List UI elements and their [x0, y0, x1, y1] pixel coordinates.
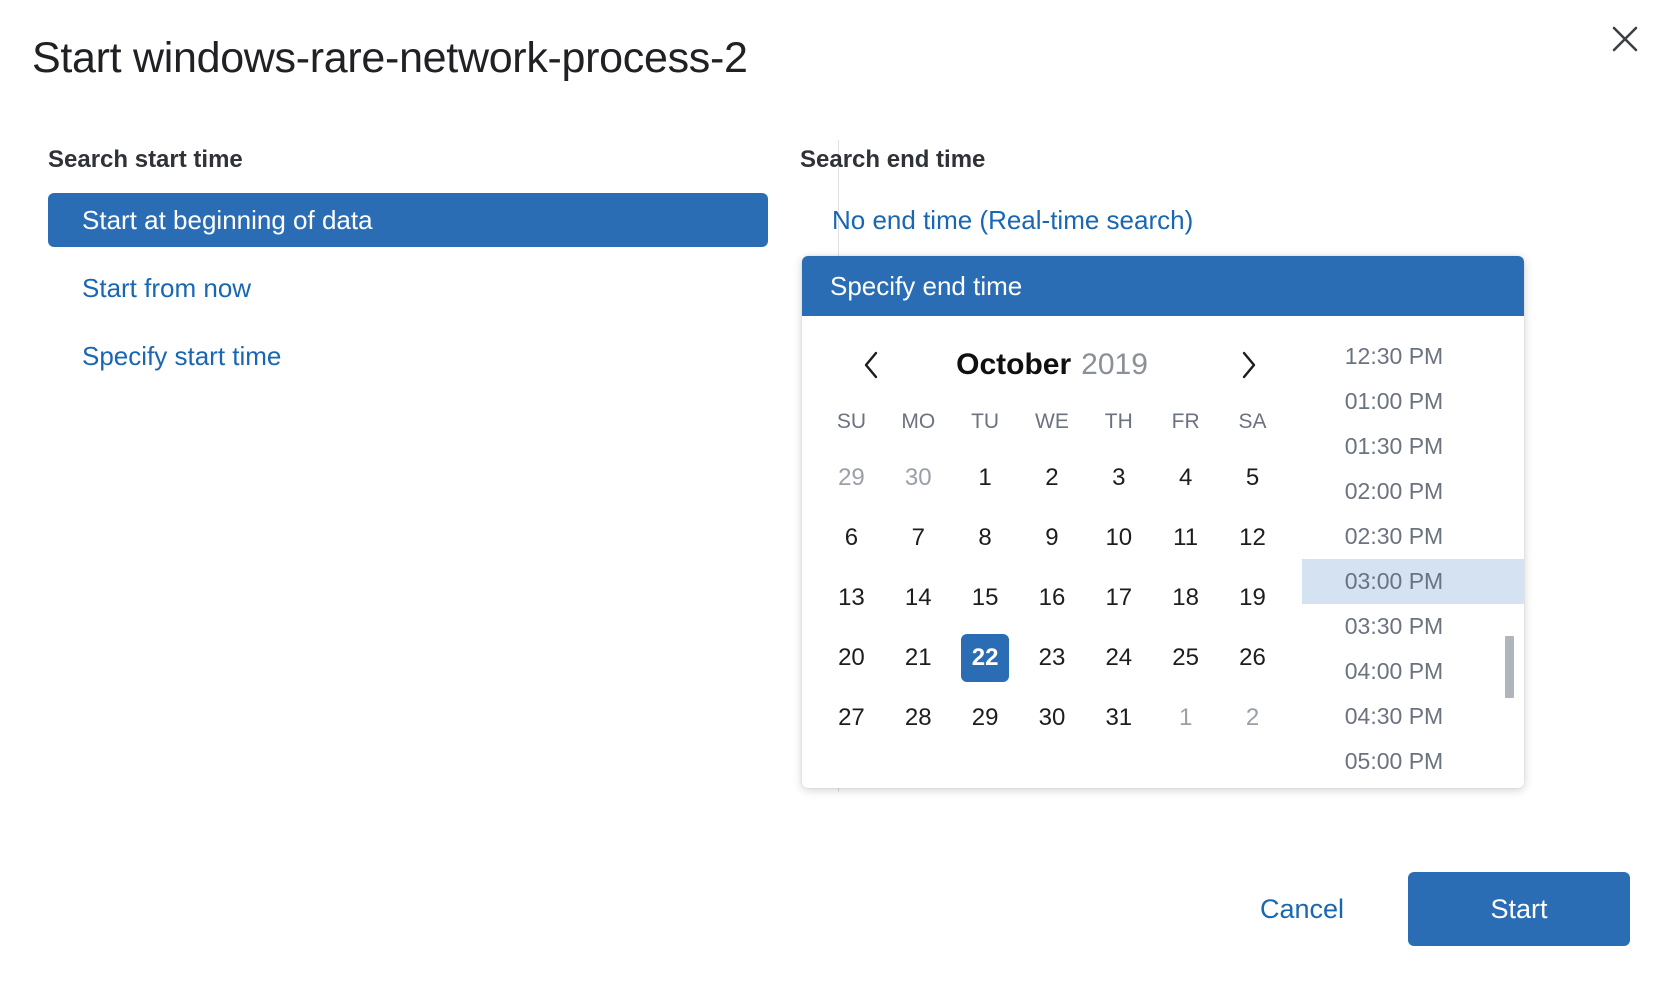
calendar-cell: 1: [1152, 688, 1219, 748]
end-time-option-list: No end time (Real-time search): [802, 193, 1524, 247]
calendar-cell: 2: [1219, 688, 1286, 748]
calendar-day[interactable]: 30: [1028, 694, 1076, 742]
calendar-cell: 1: [952, 448, 1019, 508]
time-option[interactable]: 05:00 PM: [1302, 739, 1524, 784]
calendar-day[interactable]: 8: [961, 514, 1009, 562]
calendar-day[interactable]: 24: [1095, 634, 1143, 682]
calendar-cell: 30: [885, 448, 952, 508]
start-option-beginning-of-data[interactable]: Start at beginning of data: [48, 193, 768, 247]
time-option-selected[interactable]: 03:00 PM: [1302, 559, 1524, 604]
calendar-cell: 3: [1085, 448, 1152, 508]
calendar-week-row: 293012345: [818, 448, 1286, 508]
calendar-day[interactable]: 29: [827, 454, 875, 502]
calendar-day[interactable]: 30: [894, 454, 942, 502]
calendar-grid: SUMOTUWETHFRSA 2930123456789101112131415…: [818, 396, 1286, 748]
calendar-cell: 14: [885, 568, 952, 628]
calendar-cell: 11: [1152, 508, 1219, 568]
time-option[interactable]: 02:00 PM: [1302, 469, 1524, 514]
calendar-cell: 20: [818, 628, 885, 688]
calendar-day[interactable]: 20: [827, 634, 875, 682]
calendar-cell: 27: [818, 688, 885, 748]
calendar-cell: 6: [818, 508, 885, 568]
calendar-weekday-mo: MO: [885, 396, 952, 448]
calendar-cell: 21: [885, 628, 952, 688]
calendar-day[interactable]: 26: [1229, 634, 1277, 682]
calendar-weekday-we: WE: [1019, 396, 1086, 448]
calendar-nav: October2019: [818, 334, 1286, 396]
calendar-cell: 29: [818, 448, 885, 508]
calendar-cell: 17: [1085, 568, 1152, 628]
calendar-year-label: 2019: [1081, 348, 1148, 381]
end-option-specify-end-time[interactable]: Specify end time: [802, 256, 1524, 316]
calendar-day[interactable]: 10: [1095, 514, 1143, 562]
calendar-cell: 13: [818, 568, 885, 628]
calendar-cell: 5: [1219, 448, 1286, 508]
calendar-cell: 24: [1085, 628, 1152, 688]
calendar-weekday-row: SUMOTUWETHFRSA: [818, 396, 1286, 448]
cancel-button[interactable]: Cancel: [1238, 884, 1366, 935]
calendar-month-label: October: [956, 348, 1071, 381]
calendar-cell: 10: [1085, 508, 1152, 568]
calendar-day[interactable]: 16: [1028, 574, 1076, 622]
calendar-cell: 28: [885, 688, 952, 748]
start-search-dialog: Start windows-rare-network-process-2 Sea…: [0, 0, 1666, 994]
calendar-day[interactable]: 13: [827, 574, 875, 622]
time-list-container[interactable]: 12:30 PM01:00 PM01:30 PM02:00 PM02:30 PM…: [1302, 316, 1524, 788]
calendar-day[interactable]: 4: [1162, 454, 1210, 502]
calendar-day[interactable]: 14: [894, 574, 942, 622]
start-option-from-now[interactable]: Start from now: [48, 261, 768, 315]
calendar: October2019 SUMOTUWETHFRSA 2930123456789…: [802, 316, 1302, 788]
calendar-cell: 22: [952, 628, 1019, 688]
calendar-day[interactable]: 15: [961, 574, 1009, 622]
calendar-day[interactable]: 23: [1028, 634, 1076, 682]
calendar-day[interactable]: 7: [894, 514, 942, 562]
close-button[interactable]: [1600, 14, 1650, 64]
time-option[interactable]: 01:30 PM: [1302, 424, 1524, 469]
calendar-week-row: 20212223242526: [818, 628, 1286, 688]
time-option[interactable]: 03:30 PM: [1302, 604, 1524, 649]
calendar-cell: 9: [1019, 508, 1086, 568]
dialog-title: Start windows-rare-network-process-2: [32, 34, 748, 83]
dialog-footer: Cancel Start: [1238, 872, 1630, 946]
calendar-week-row: 6789101112: [818, 508, 1286, 568]
calendar-day[interactable]: 6: [827, 514, 875, 562]
calendar-week-row: 272829303112: [818, 688, 1286, 748]
calendar-cell: 30: [1019, 688, 1086, 748]
calendar-day-selected[interactable]: 22: [961, 634, 1009, 682]
calendar-cell: 19: [1219, 568, 1286, 628]
calendar-cell: 26: [1219, 628, 1286, 688]
time-list: 12:30 PM01:00 PM01:30 PM02:00 PM02:30 PM…: [1302, 334, 1524, 784]
calendar-day[interactable]: 27: [827, 694, 875, 742]
search-end-time-heading: Search end time: [800, 146, 985, 174]
calendar-day-rows: 2930123456789101112131415161718192021222…: [818, 448, 1286, 748]
time-option[interactable]: 02:30 PM: [1302, 514, 1524, 559]
calendar-day[interactable]: 2: [1028, 454, 1076, 502]
calendar-day[interactable]: 1: [961, 454, 1009, 502]
calendar-cell: 12: [1219, 508, 1286, 568]
calendar-day[interactable]: 2: [1229, 694, 1277, 742]
calendar-day[interactable]: 11: [1162, 514, 1210, 562]
calendar-day[interactable]: 9: [1028, 514, 1076, 562]
calendar-cell: 7: [885, 508, 952, 568]
start-option-specify-start-time[interactable]: Specify start time: [48, 329, 768, 383]
calendar-day[interactable]: 28: [894, 694, 942, 742]
calendar-weekday-sa: SA: [1219, 396, 1286, 448]
calendar-cell: 31: [1085, 688, 1152, 748]
calendar-cell: 16: [1019, 568, 1086, 628]
calendar-cell: 25: [1152, 628, 1219, 688]
calendar-day[interactable]: 17: [1095, 574, 1143, 622]
calendar-cell: 18: [1152, 568, 1219, 628]
time-list-scrollbar[interactable]: [1505, 636, 1514, 698]
time-option[interactable]: 01:00 PM: [1302, 379, 1524, 424]
calendar-cell: 4: [1152, 448, 1219, 508]
start-time-option-list: Start at beginning of data Start from no…: [48, 193, 768, 383]
calendar-day[interactable]: 18: [1162, 574, 1210, 622]
calendar-day[interactable]: 3: [1095, 454, 1143, 502]
calendar-day[interactable]: 5: [1229, 454, 1277, 502]
end-time-picker-popup: Specify end time October2019: [802, 256, 1524, 788]
calendar-day[interactable]: 1: [1162, 694, 1210, 742]
time-option[interactable]: 04:00 PM: [1302, 649, 1524, 694]
chevron-left-icon[interactable]: [852, 346, 890, 384]
calendar-day[interactable]: 12: [1229, 514, 1277, 562]
calendar-day[interactable]: 19: [1229, 574, 1277, 622]
calendar-cell: 23: [1019, 628, 1086, 688]
time-option[interactable]: 04:30 PM: [1302, 694, 1524, 739]
calendar-cell: 15: [952, 568, 1019, 628]
calendar-day[interactable]: 25: [1162, 634, 1210, 682]
close-icon: [1610, 24, 1640, 54]
calendar-weekday-tu: TU: [952, 396, 1019, 448]
calendar-week-row: 13141516171819: [818, 568, 1286, 628]
start-button[interactable]: Start: [1408, 872, 1630, 946]
calendar-weekday-fr: FR: [1152, 396, 1219, 448]
calendar-weekday-su: SU: [818, 396, 885, 448]
calendar-cell: 2: [1019, 448, 1086, 508]
end-option-no-end-time[interactable]: No end time (Real-time search): [802, 193, 1524, 247]
calendar-weekday-th: TH: [1085, 396, 1152, 448]
calendar-day[interactable]: 31: [1095, 694, 1143, 742]
search-start-time-heading: Search start time: [48, 146, 243, 174]
calendar-month-year: October2019: [956, 348, 1148, 382]
calendar-day[interactable]: 29: [961, 694, 1009, 742]
picker-body: October2019 SUMOTUWETHFRSA 2930123456789…: [802, 316, 1524, 788]
chevron-right-icon[interactable]: [1230, 346, 1268, 384]
calendar-cell: 29: [952, 688, 1019, 748]
calendar-cell: 8: [952, 508, 1019, 568]
time-option[interactable]: 12:30 PM: [1302, 334, 1524, 379]
calendar-day[interactable]: 21: [894, 634, 942, 682]
